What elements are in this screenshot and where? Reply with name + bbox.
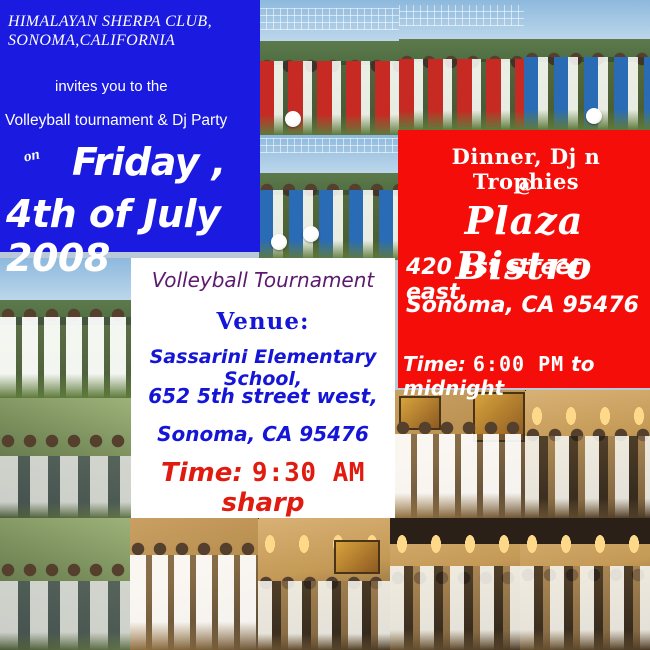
photo-speaker-with-khata (395, 390, 525, 518)
photo-party-camera (390, 518, 520, 650)
photo-volleyball-team-red-white (259, 0, 399, 135)
tournament-time-digits: 9:30 AM (252, 458, 365, 488)
event-line: Volleyball tournament & Dj Party (5, 112, 227, 130)
tournament-time-label: Time: (161, 458, 243, 488)
dinner-time-label: Time: (403, 352, 466, 376)
tournament-title: Volleyball Tournament (131, 268, 395, 292)
day-line: Friday , (72, 140, 226, 184)
on-word: on (22, 147, 41, 167)
dinner-address-line2: Sonoma, CA 95476 (406, 293, 639, 318)
white-venue-panel: Volleyball Tournament Venue: Sassarini E… (131, 258, 395, 518)
blue-invitation-panel: HIMALAYAN SHERPA CLUB, SONOMA,CALIFORNIA… (0, 0, 260, 252)
club-name-line1: HIMALAYAN SHERPA CLUB, (8, 12, 258, 31)
flyer-poster: HIMALAYAN SHERPA CLUB, SONOMA,CALIFORNIA… (0, 0, 650, 650)
volleyball-net-icon (259, 8, 399, 30)
photo-restaurant-seated (258, 518, 390, 650)
photo-volleyball-team-blue (524, 0, 650, 130)
venue-address-line2: 652 5th street west, (131, 384, 395, 408)
photo-guitar-picnic (0, 398, 131, 518)
tournament-time-suffix: sharp (222, 488, 305, 518)
club-name: HIMALAYAN SHERPA CLUB, SONOMA,CALIFORNIA (8, 12, 258, 50)
photo-party-dancing (520, 518, 650, 650)
tournament-time: Time: 9:30 AM sharp (131, 458, 395, 518)
at-symbol: @ (398, 174, 650, 196)
photo-picnic-under-tree (0, 518, 130, 650)
photo-volleyball-team-red-kneeling (399, 0, 524, 130)
dinner-time-digits: 6:00 PM (473, 352, 564, 376)
venue-address-line3: Sonoma, CA 95476 (131, 422, 395, 446)
photo-dinner-table (130, 518, 258, 650)
photo-indoor-gathering (525, 390, 650, 518)
red-dinner-panel: Dinner, Dj n Trophies @ Plaza Bistro 420… (398, 130, 650, 388)
dinner-time: Time: 6:00 PM to midnight (403, 352, 650, 400)
photo-volleyball-team-blue-2 (259, 135, 399, 260)
club-name-line2: SONOMA,CALIFORNIA (8, 31, 258, 50)
invites-line: invites you to the (55, 78, 168, 95)
venue-label: Venue: (131, 308, 395, 335)
